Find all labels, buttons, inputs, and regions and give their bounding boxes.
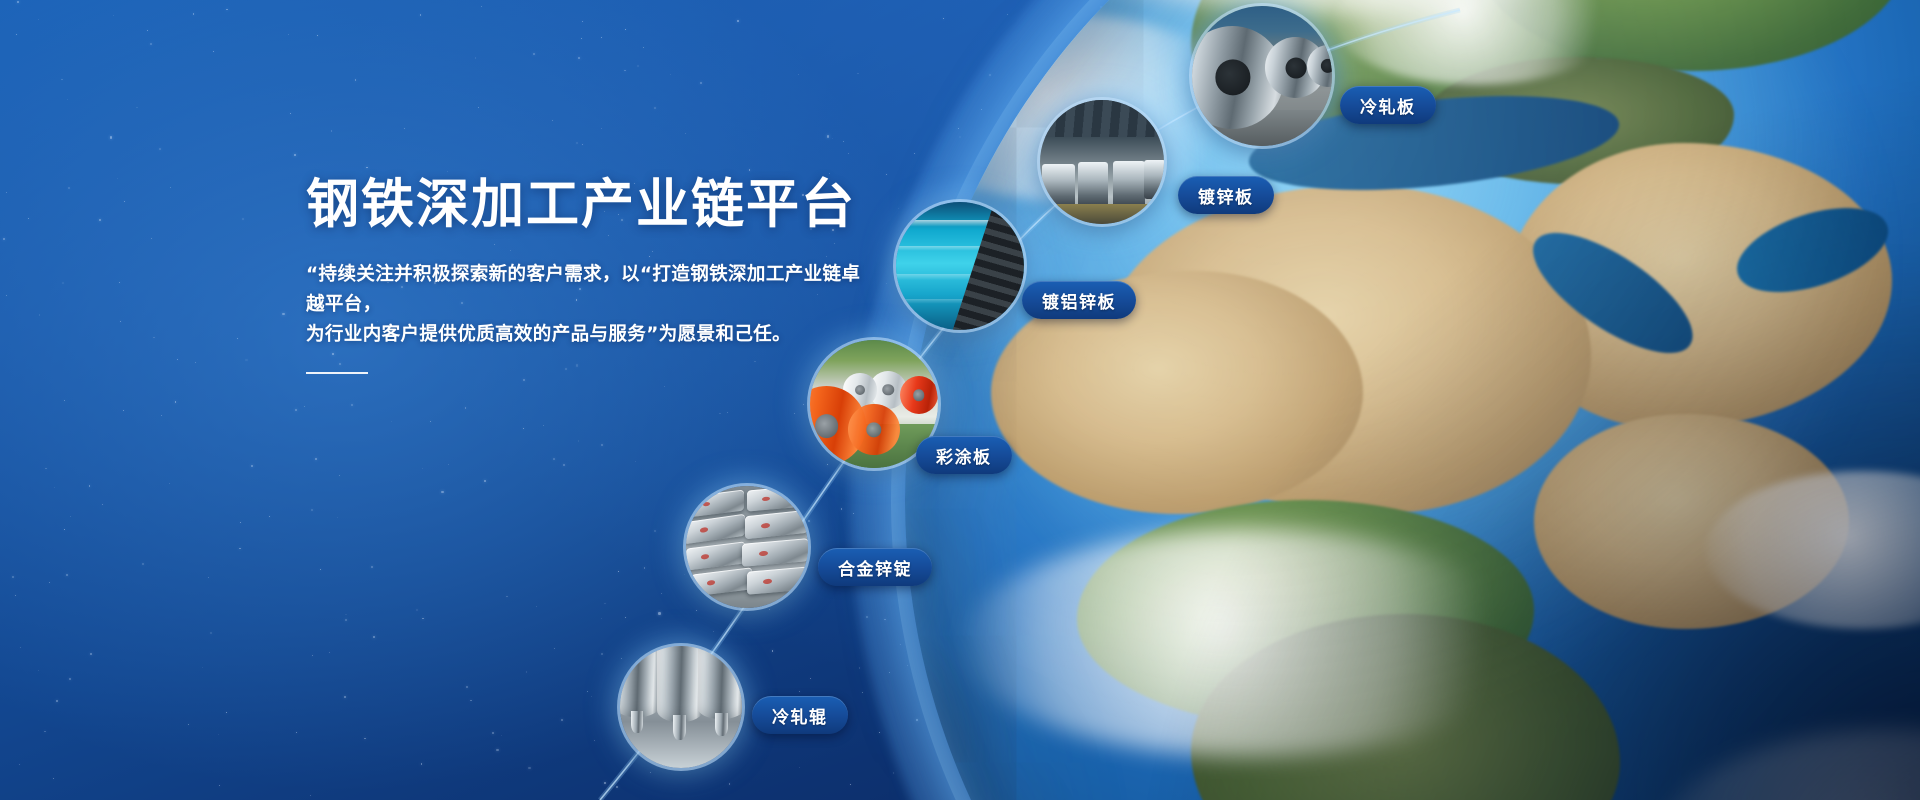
coil-orange-2 [848,404,899,455]
bubble-zinc-alloy-ingot[interactable] [686,486,808,608]
cloud-terminator [1649,729,1920,800]
coil-row-far [1144,160,1164,200]
hero-subtitle-line-2: 为行业内客户提供优质高效的产品与服务”为愿景和己任。 [306,320,866,350]
landmass-congo [1191,614,1620,800]
roll-left-neck [631,711,643,734]
cold-rolling-roll-photo [620,646,742,768]
ingot-2 [747,486,806,512]
cloud-europe [1334,0,1620,85]
roll-center [657,646,703,722]
ingot-7 [691,568,752,597]
warehouse-floor [1040,204,1164,224]
landmass-eastern-europe [1477,0,1906,71]
connector-curve [0,0,1920,800]
bubble-galvanized-sheet[interactable] [1040,100,1164,224]
landmass-sahara [1105,185,1591,514]
star-field [0,0,1920,800]
ingot-6 [742,538,808,567]
hero-copy: 钢铁深加工产业链平台 “持续关注并积极探索新的客户需求，以“打造钢铁深加工产业链… [306,175,906,374]
landmass-horn-of-africa [1534,414,1849,629]
roll-left [620,646,659,717]
landmass-anatolia [1420,57,1735,186]
ingot-4 [745,509,808,539]
coil-red [900,376,938,414]
bubble-cold-rolled-sheet[interactable] [1192,6,1332,146]
roll-right-neck [715,713,728,736]
cloud-indian [1706,471,1920,628]
tag-cold-rolled-sheet[interactable]: 冷轧板 [1340,86,1436,124]
landmass-sahel [1077,500,1535,729]
ingot-8 [747,566,808,595]
hero-subtitle: “持续关注并积极探索新的客户需求，以“打造钢铁深加工产业链卓越平台， 为行业内客… [306,260,866,350]
tag-zinc-alloy-ingot[interactable]: 合金锌锭 [818,548,932,586]
tag-color-coated-sheet[interactable]: 彩涂板 [916,436,1012,474]
steel-coil-row-photo [1192,6,1332,146]
coil-row-center [1078,162,1108,207]
accent-rule [306,372,368,374]
cloud-band-north [1019,0,1648,14]
page-title: 钢铁深加工产业链平台 [306,175,906,234]
cloud-equatorial [962,529,1534,758]
tag-aluzinc-sheet[interactable]: 镀铝锌板 [1022,281,1136,319]
tag-cold-rolling-roll[interactable]: 冷轧辊 [752,696,848,734]
bubble-aluzinc-sheet[interactable] [896,202,1024,330]
coil-row-right [1113,161,1145,207]
ocean-shadow [1363,271,1920,800]
persian-gulf [1727,191,1899,308]
landmass-arabia [1506,143,1892,429]
zinc-alloy-ingot-photo [686,486,808,608]
tag-galvanized-sheet[interactable]: 镀锌板 [1178,176,1274,214]
hero-subtitle-line-1: “持续关注并积极探索新的客户需求，以“打造钢铁深加工产业链卓越平台， [306,260,866,320]
warehouse-roof [1040,100,1164,137]
ingot-5 [686,541,745,570]
aluzinc-cyan-coil-photo [896,202,1024,330]
red-sea [1516,211,1710,374]
roll-right [698,646,742,719]
ingot-3 [686,513,745,544]
coil-row-left [1042,164,1074,206]
galvanized-warehouse-photo [1040,100,1164,224]
ingot-1 [688,490,744,518]
hero-banner: 冷轧板 镀锌板 镀铝锌板 [0,0,1920,800]
bubble-cold-rolling-roll[interactable] [620,646,742,768]
roll-center-neck [673,715,686,741]
